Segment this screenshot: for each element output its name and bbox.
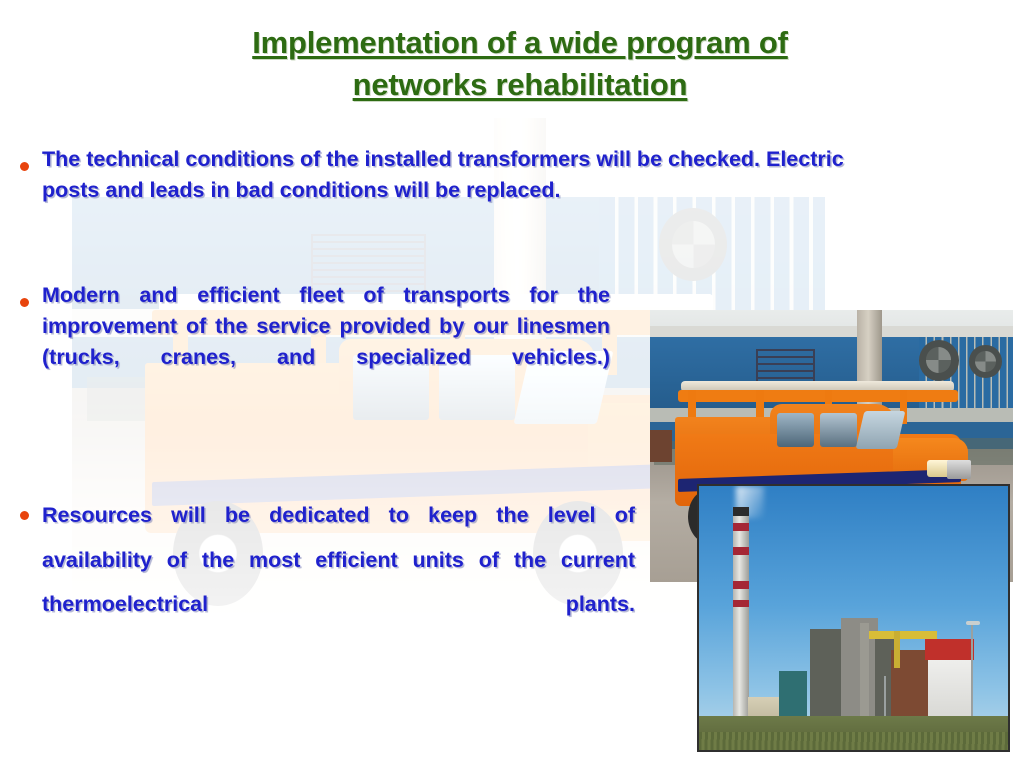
list-item: The technical conditions of the installe…	[20, 144, 880, 206]
list-item: Resources will be dedicated to keep the …	[20, 493, 655, 671]
presentation-slide: Implementation of a wide program of netw…	[0, 0, 1024, 768]
bullet-text-3: Resources will be dedicated to keep the …	[42, 493, 635, 671]
title-line-2: networks rehabilitation	[80, 64, 960, 106]
page-title: Implementation of a wide program of netw…	[80, 22, 960, 105]
bullet-dot-icon	[20, 289, 42, 311]
title-line-1: Implementation of a wide program of	[80, 22, 960, 64]
list-item: Modern and efficient fleet of transports…	[20, 280, 630, 405]
bullet-dot-icon	[20, 502, 42, 524]
bullet-text-1: The technical conditions of the installe…	[42, 144, 860, 206]
bullet-text-2: Modern and efficient fleet of transports…	[42, 280, 610, 405]
bullet-dot-icon	[20, 153, 42, 175]
slide-body: The technical conditions of the installe…	[0, 0, 1024, 768]
